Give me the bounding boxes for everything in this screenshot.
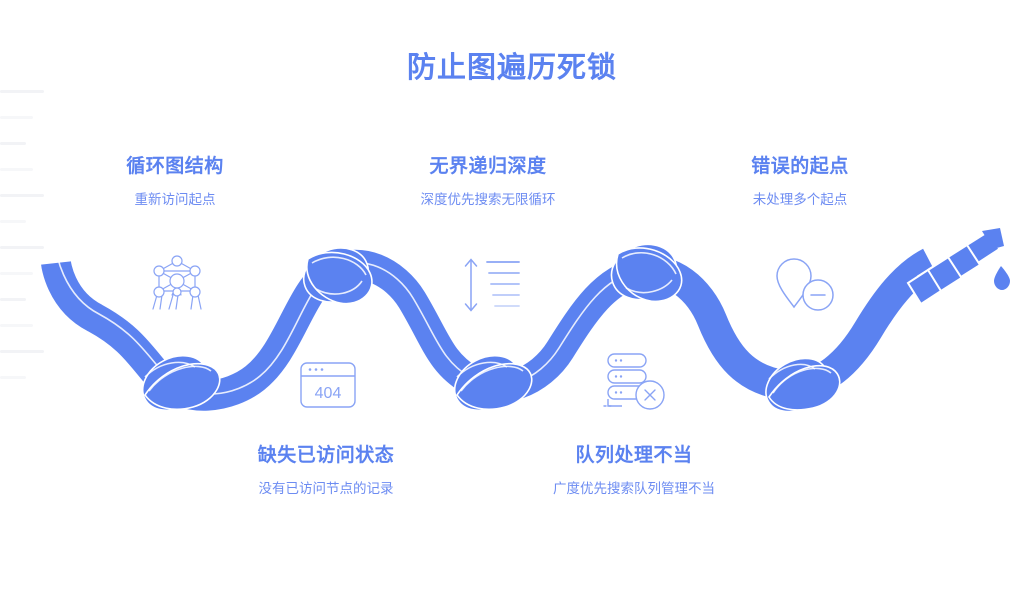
graph-node-network-icon xyxy=(141,248,213,314)
label-title: 错误的起点 xyxy=(680,156,920,179)
label-cyclic-graph-structure: 循环图结构 重新访问起点 xyxy=(55,156,295,209)
label-unbounded-recursion-depth: 无界递归深度 深度优先搜索无限循环 xyxy=(368,156,608,209)
database-error-icon xyxy=(600,348,672,414)
label-wrong-start-point: 错误的起点 未处理多个起点 xyxy=(680,156,920,209)
label-subtitle: 未处理多个起点 xyxy=(680,190,920,210)
label-subtitle: 广度优先搜索队列管理不当 xyxy=(518,479,750,499)
map-pin-minus-icon xyxy=(770,252,842,318)
label-subtitle: 没有已访问节点的记录 xyxy=(206,479,446,499)
depth-arrow-lines-icon xyxy=(456,252,528,318)
label-improper-queue-handling: 队列处理不当 广度优先搜索队列管理不当 xyxy=(518,445,750,498)
infographic-root: 防止图遍历死锁 .rope-body { fill:none; stroke:#… xyxy=(0,0,1024,602)
label-title: 队列处理不当 xyxy=(518,445,750,468)
label-missing-visited-state: 缺失已访问状态 没有已访问节点的记录 xyxy=(206,445,446,498)
label-subtitle: 重新访问起点 xyxy=(55,190,295,210)
label-title: 无界递归深度 xyxy=(368,156,608,179)
label-title: 循环图结构 xyxy=(55,156,295,179)
browser-404-text: 404 xyxy=(315,385,342,402)
browser-404-icon: 404 xyxy=(292,353,364,419)
label-title: 缺失已访问状态 xyxy=(206,445,446,468)
label-subtitle: 深度优先搜索无限循环 xyxy=(368,190,608,210)
